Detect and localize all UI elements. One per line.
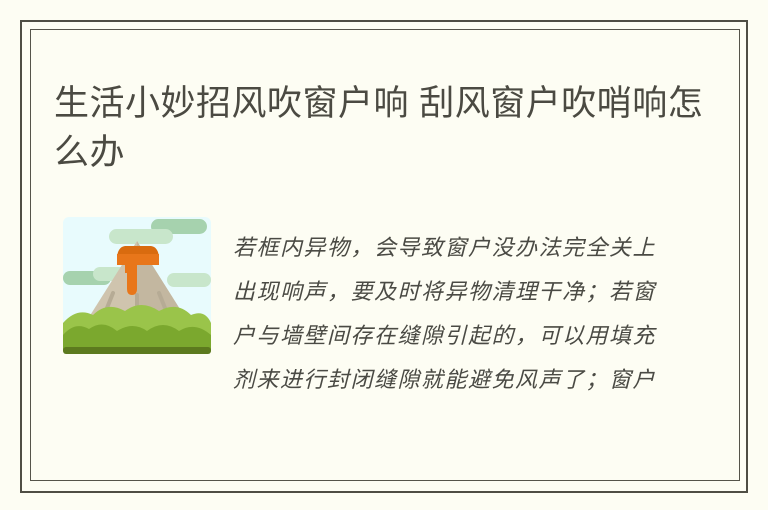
article-body-text: 若框内异物，会导致窗户没办法完全关上出现响声，要及时将异物清理干净；若窗户与墙壁… — [233, 227, 663, 403]
page-root: 生活小妙招风吹窗户响 刮风窗户吹哨响怎么办 — [0, 0, 768, 510]
inner-frame-border: 生活小妙招风吹窗户响 刮风窗户吹哨响怎么办 — [30, 29, 740, 481]
article-body-section: 若框内异物，会导致窗户没办法完全关上出现响声，要及时将异物清理干净；若窗户与墙壁… — [54, 205, 729, 480]
volcano-icon — [63, 211, 211, 359]
volcano-illustration — [63, 211, 211, 359]
card-content: 生活小妙招风吹窗户响 刮风窗户吹哨响怎么办 — [31, 30, 739, 480]
page-title: 生活小妙招风吹窗户响 刮风窗户吹哨响怎么办 — [54, 79, 704, 177]
